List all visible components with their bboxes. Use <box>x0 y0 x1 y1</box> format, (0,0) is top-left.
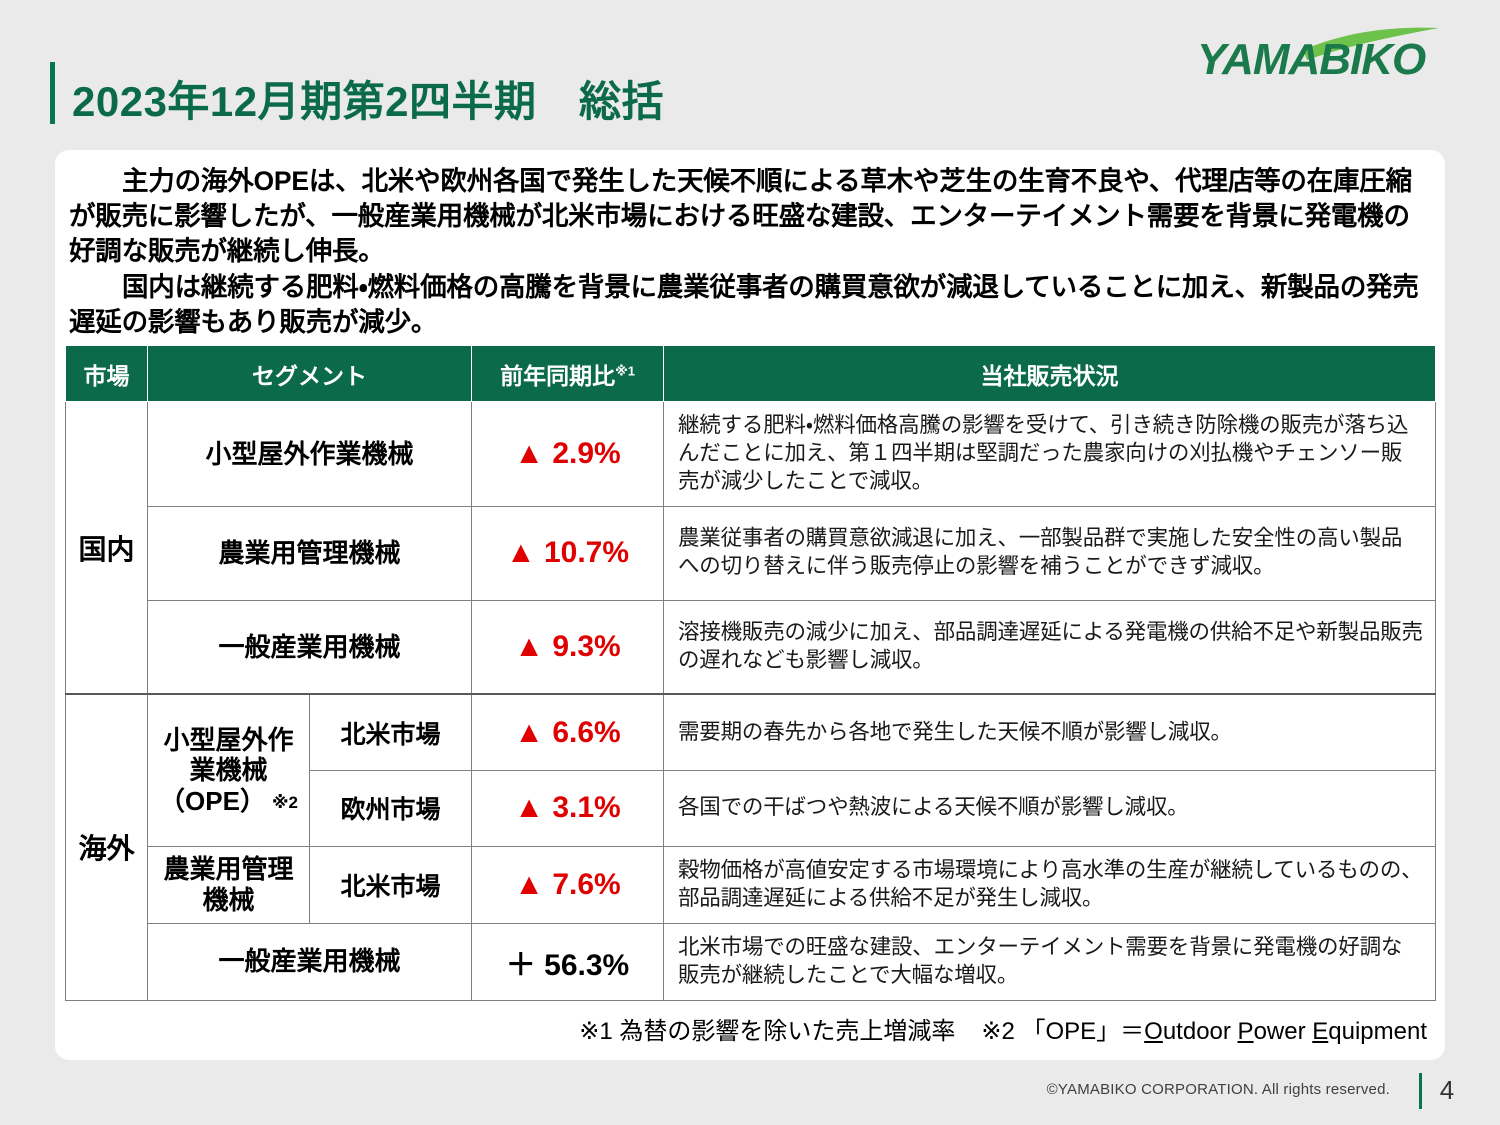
yamabiko-logo: YAMABIKO <box>1195 26 1445 90</box>
footnote-2-utdoor: utdoor <box>1163 1018 1238 1045</box>
title-accent-bar <box>50 62 55 124</box>
status-description: 農業従事者の購買意欲減退に加え、一部製品群で実施した安全性の高い製品への切り替え… <box>664 506 1436 600</box>
yoy-value: ▲ 10.7% <box>472 506 664 600</box>
copyright-text: ©YAMABIKO CORPORATION. All rights reserv… <box>1047 1081 1390 1098</box>
status-description: 各国での干ばつや熱波による天候不順が影響し減収。 <box>664 770 1436 846</box>
market-label-overseas: 海外 <box>66 694 148 1000</box>
summary-paragraph-2: 国内は継続する肥料・燃料価格の高騰を背景に農業従事者の購買意欲が減退していること… <box>69 270 1431 340</box>
table-body: 国内 小型屋外作業機械 ▲ 2.9% 継続する肥料・燃料価格高騰の影響を受けて、… <box>66 402 1436 1001</box>
yoy-value: ＋ 56.3% <box>472 923 664 1000</box>
page-title: 2023年12月期第2四半期 総括 <box>72 68 664 129</box>
table-row: 国内 小型屋外作業機械 ▲ 2.9% 継続する肥料・燃料価格高騰の影響を受けて、… <box>66 402 1436 507</box>
column-header-yoy: 前年同期比※1 <box>472 346 664 402</box>
slide-header: 2023年12月期第2四半期 総括 YAMABIKO <box>0 0 1500 150</box>
table-row: 一般産業用機械 ＋ 56.3% 北米市場での旺盛な建設、エンターテイメント需要を… <box>66 923 1436 1000</box>
table-header-row: 市場 セグメント 前年同期比※1 当社販売状況 <box>66 346 1436 402</box>
column-header-segment: セグメント <box>148 346 472 402</box>
yoy-value: ▲ 6.6% <box>472 694 664 770</box>
submarket-label: 北米市場 <box>310 846 472 923</box>
segment-label: 農業用管理機械 <box>148 506 472 600</box>
segment-label: 小型屋外作業機械 <box>148 402 472 507</box>
segment-label-ope: 小型屋外作業機械（OPE）※2 <box>148 694 310 846</box>
status-description: 継続する肥料・燃料価格高騰の影響を受けて、引き続き防除機の販売が落ち込んだことに… <box>664 402 1436 507</box>
footnote-2-prefix: ※2 「OPE」＝ <box>981 1018 1144 1045</box>
segment-label-ope-footnote-marker: ※2 <box>272 793 298 812</box>
status-description: 北米市場での旺盛な建設、エンターテイメント需要を背景に発電機の好調な販売が継続し… <box>664 923 1436 1000</box>
column-header-yoy-footnote-marker: ※1 <box>615 363 635 378</box>
footnote-1: ※1 為替の影響を除いた売上増減率 <box>579 1018 955 1045</box>
submarket-label: 北米市場 <box>310 694 472 770</box>
table-row: 農業用管理機械 ▲ 10.7% 農業従事者の購買意欲減退に加え、一部製品群で実施… <box>66 506 1436 600</box>
yoy-value: ▲ 9.3% <box>472 600 664 694</box>
status-description: 溶接機販売の減少に加え、部品調達遅延による発電機の供給不足や新製品販売の遅れなど… <box>664 600 1436 694</box>
page-number-divider <box>1419 1073 1422 1109</box>
segment-label: 農業用管理機械 <box>148 846 310 923</box>
status-description: 需要期の春先から各地で発生した天候不順が影響し減収。 <box>664 694 1436 770</box>
footnote-2-e: E <box>1312 1018 1328 1045</box>
segment-label: 一般産業用機械 <box>148 923 472 1000</box>
table-row: 海外 小型屋外作業機械（OPE）※2 北米市場 ▲ 6.6% 需要期の春先から各… <box>66 694 1436 770</box>
yoy-value: ▲ 2.9% <box>472 402 664 507</box>
market-label-domestic: 国内 <box>66 402 148 695</box>
table-row: 一般産業用機械 ▲ 9.3% 溶接機販売の減少に加え、部品調達遅延による発電機の… <box>66 600 1436 694</box>
segment-label: 一般産業用機械 <box>148 600 472 694</box>
status-description: 穀物価格が高値安定する市場環境により高水準の生産が継続しているものの、部品調達遅… <box>664 846 1436 923</box>
yoy-value: ▲ 3.1% <box>472 770 664 846</box>
page-number: 4 <box>1432 1075 1462 1106</box>
footnote-2-o: O <box>1144 1018 1163 1045</box>
footnote-2-ower: ower <box>1254 1018 1313 1045</box>
table-header: 市場 セグメント 前年同期比※1 当社販売状況 <box>66 346 1436 402</box>
content-panel: 主力の海外OPEは、北米や欧州各国で発生した天候不順による草木や芝生の生育不良や… <box>55 150 1445 1060</box>
sales-status-table: 市場 セグメント 前年同期比※1 当社販売状況 国内 小型屋外作業機械 ▲ 2.… <box>65 345 1436 1001</box>
footnotes: ※1 為替の影響を除いた売上増減率※2 「OPE」＝Outdoor Power … <box>65 1011 1435 1046</box>
yoy-value: ▲ 7.6% <box>472 846 664 923</box>
column-header-yoy-label: 前年同期比 <box>500 363 615 389</box>
submarket-label: 欧州市場 <box>310 770 472 846</box>
table-row: 農業用管理機械 北米市場 ▲ 7.6% 穀物価格が高値安定する市場環境により高水… <box>66 846 1436 923</box>
column-header-market: 市場 <box>66 346 148 402</box>
summary-paragraph-1: 主力の海外OPEは、北米や欧州各国で発生した天候不順による草木や芝生の生育不良や… <box>69 164 1431 270</box>
column-header-status: 当社販売状況 <box>664 346 1436 402</box>
summary-text: 主力の海外OPEは、北米や欧州各国で発生した天候不順による草木や芝生の生育不良や… <box>69 164 1431 340</box>
footnote-2-quipment: quipment <box>1328 1018 1427 1045</box>
svg-text:YAMABIKO: YAMABIKO <box>1197 35 1426 84</box>
slide-footer: ©YAMABIKO CORPORATION. All rights reserv… <box>0 1067 1500 1117</box>
footnote-2-p: P <box>1238 1018 1254 1045</box>
